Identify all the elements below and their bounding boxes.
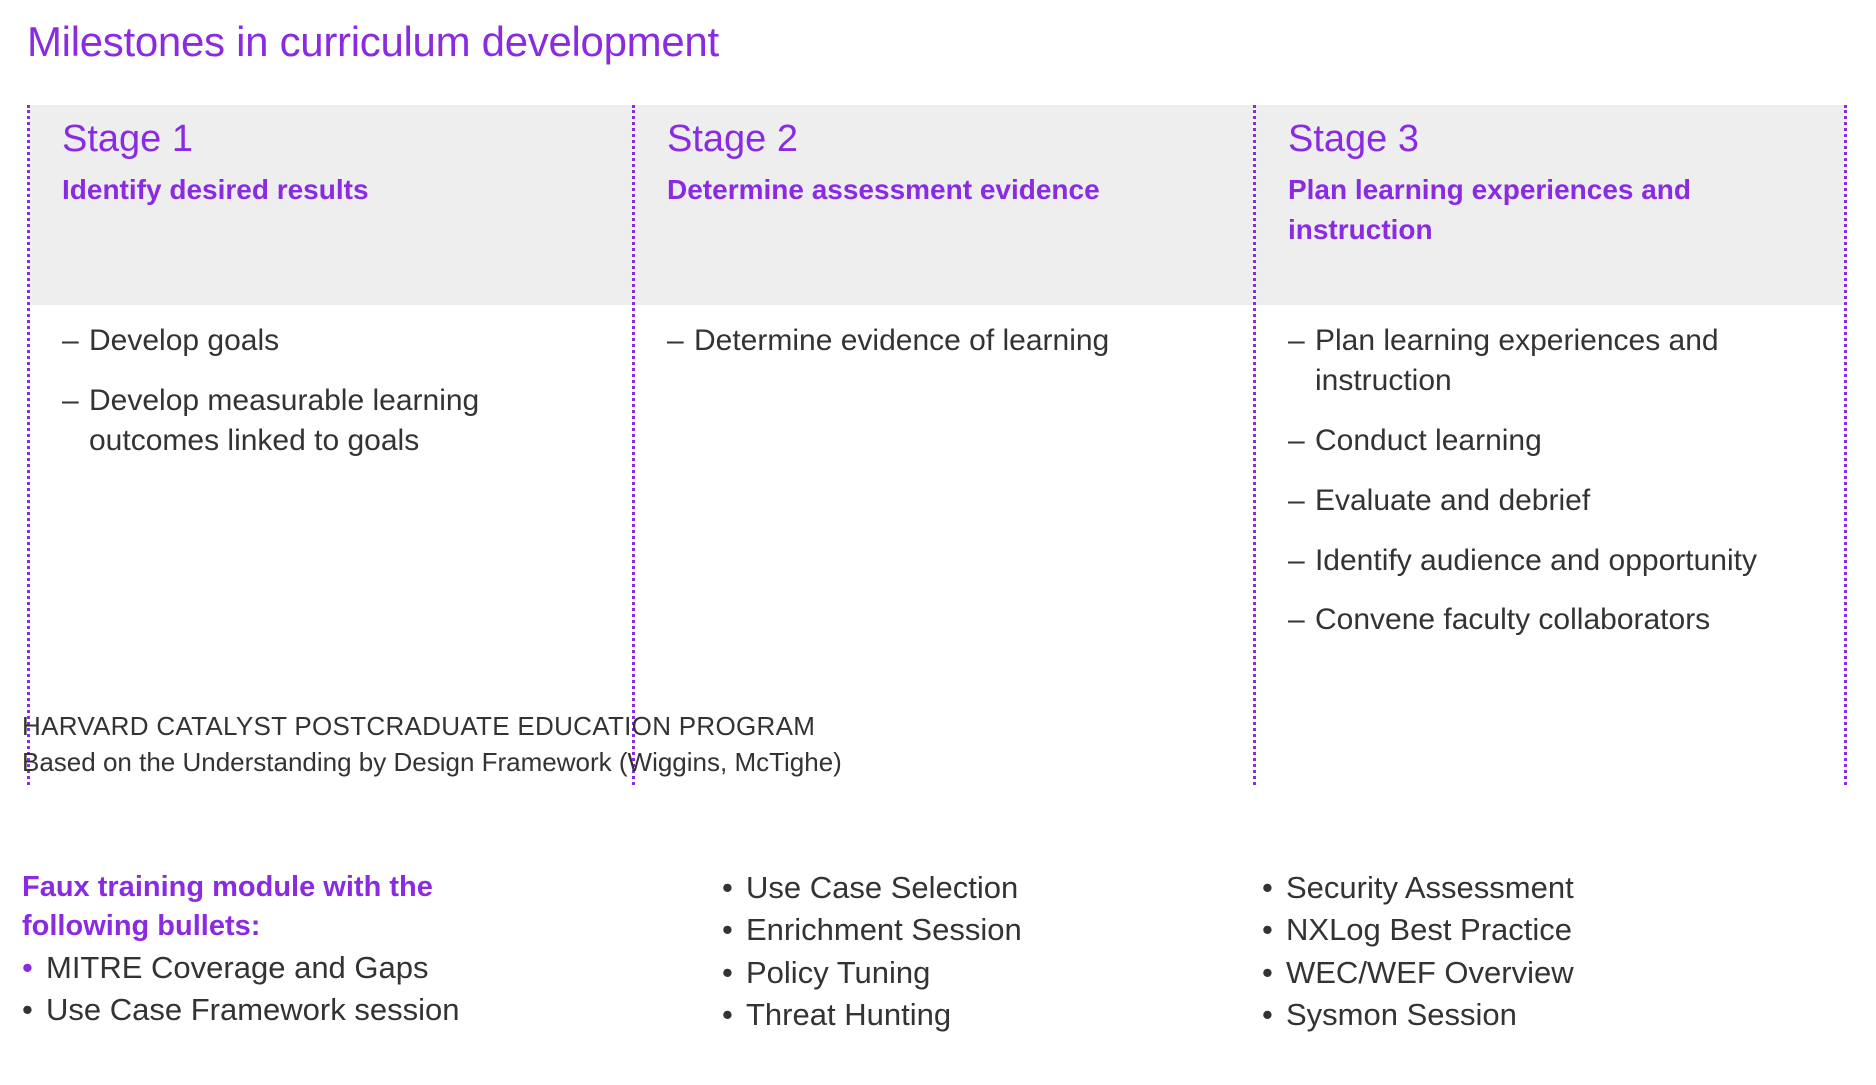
stage-1-header: Stage 1 Identify desired results [30,105,632,305]
bottom-bullets: Faux training module with the following … [22,868,1852,1037]
list-item: • Enrichment Session [722,910,1262,950]
stage-3-bullet: – Conduct learning [1288,421,1818,461]
bullet-dot-icon: • [1262,995,1286,1035]
stage-3-bullet-text: Plan learning experiences and instructio… [1315,321,1818,401]
bottom-column-3: • Security Assessment • NXLog Best Pract… [1262,868,1822,1037]
stage-column-1: Stage 1 Identify desired results – Devel… [27,105,632,785]
stage-3-header: Stage 3 Plan learning experiences and in… [1256,105,1844,305]
dash-marker: – [1288,541,1315,581]
stage-3-bullet: – Identify audience and opportunity [1288,541,1818,581]
caption-program-line: HARVARD CATALYST POSTCRADUATE EDUCATION … [22,710,1172,743]
list-item-label: WEC/WEF Overview [1286,953,1822,993]
stages-table: Stage 1 Identify desired results – Devel… [27,105,1847,785]
bullet-dot-icon: • [722,995,746,1035]
stage-1-title: Identify desired results [62,170,602,210]
list-item: • WEC/WEF Overview [1262,953,1822,993]
bullet-dot-icon: • [722,868,746,908]
stage-3-bullet-text: Convene faculty collaborators [1315,600,1818,640]
list-item-label: Use Case Selection [746,868,1262,908]
list-item: • Security Assessment [1262,868,1822,908]
bottom-column-2: • Use Case Selection • Enrichment Sessio… [722,868,1262,1037]
bullet-dot-icon: • [22,948,46,988]
stage-3-bullet: – Evaluate and debrief [1288,481,1818,521]
dash-marker: – [1288,321,1315,401]
stage-2-bullet-text: Determine evidence of learning [694,321,1207,361]
table-right-border [1844,105,1847,785]
list-item: • Sysmon Session [1262,995,1822,1035]
bullet-dot-icon: • [722,910,746,950]
stage-1-label: Stage 1 [62,117,602,162]
stage-3-bullet-text: Evaluate and debrief [1315,481,1818,521]
stage-1-bullet: – Develop goals [62,321,602,361]
list-item-label: Use Case Framework session [46,990,722,1030]
faux-module-heading: Faux training module with the following … [22,868,542,946]
page-title: Milestones in curriculum development [27,18,719,66]
bullet-dot-icon: • [1262,910,1286,950]
bottom-column-1: Faux training module with the following … [22,868,722,1037]
stage-1-bullet-text: Develop measurable learning outcomes lin… [89,381,602,461]
list-item-label: Enrichment Session [746,910,1262,950]
stage-3-bullet-text: Identify audience and opportunity [1315,541,1818,581]
dash-marker: – [1288,421,1315,461]
stage-column-3: Stage 3 Plan learning experiences and in… [1253,105,1844,785]
list-item: • Use Case Selection [722,868,1262,908]
dash-marker: – [1288,600,1315,640]
stage-column-2: Stage 2 Determine assessment evidence – … [632,105,1253,785]
stage-2-header: Stage 2 Determine assessment evidence [635,105,1253,305]
list-item-label: NXLog Best Practice [1286,910,1822,950]
list-item: • Policy Tuning [722,953,1262,993]
stage-1-bullet-text: Develop goals [89,321,602,361]
stage-3-bullet: – Convene faculty collaborators [1288,600,1818,640]
caption-framework-line: Based on the Understanding by Design Fra… [22,746,1172,779]
dash-marker: – [1288,481,1315,521]
stage-3-body: – Plan learning experiences and instruct… [1256,305,1844,785]
stage-2-title: Determine assessment evidence [667,170,1207,210]
list-item-label: MITRE Coverage and Gaps [46,948,722,988]
bullet-dot-icon: • [722,953,746,993]
stage-3-label: Stage 3 [1288,117,1814,162]
list-item: • MITRE Coverage and Gaps [22,948,722,988]
bullet-dot-icon: • [22,990,46,1030]
stage-2-bullet: – Determine evidence of learning [667,321,1207,361]
dash-marker: – [667,321,694,361]
stage-3-bullet-text: Conduct learning [1315,421,1818,461]
list-item-label: Threat Hunting [746,995,1262,1035]
stage-3-bullet: – Plan learning experiences and instruct… [1288,321,1818,401]
list-item-label: Sysmon Session [1286,995,1822,1035]
stage-3-title: Plan learning experiences and instructio… [1288,170,1814,250]
list-item-label: Policy Tuning [746,953,1262,993]
list-item: • Use Case Framework session [22,990,722,1030]
list-item: • NXLog Best Practice [1262,910,1822,950]
source-caption: HARVARD CATALYST POSTCRADUATE EDUCATION … [22,710,1172,778]
dash-marker: – [62,381,89,461]
dash-marker: – [62,321,89,361]
list-item: • Threat Hunting [722,995,1262,1035]
bullet-dot-icon: • [1262,953,1286,993]
stage-1-bullet: – Develop measurable learning outcomes l… [62,381,602,461]
bullet-dot-icon: • [1262,868,1286,908]
list-item-label: Security Assessment [1286,868,1822,908]
stage-2-label: Stage 2 [667,117,1223,162]
